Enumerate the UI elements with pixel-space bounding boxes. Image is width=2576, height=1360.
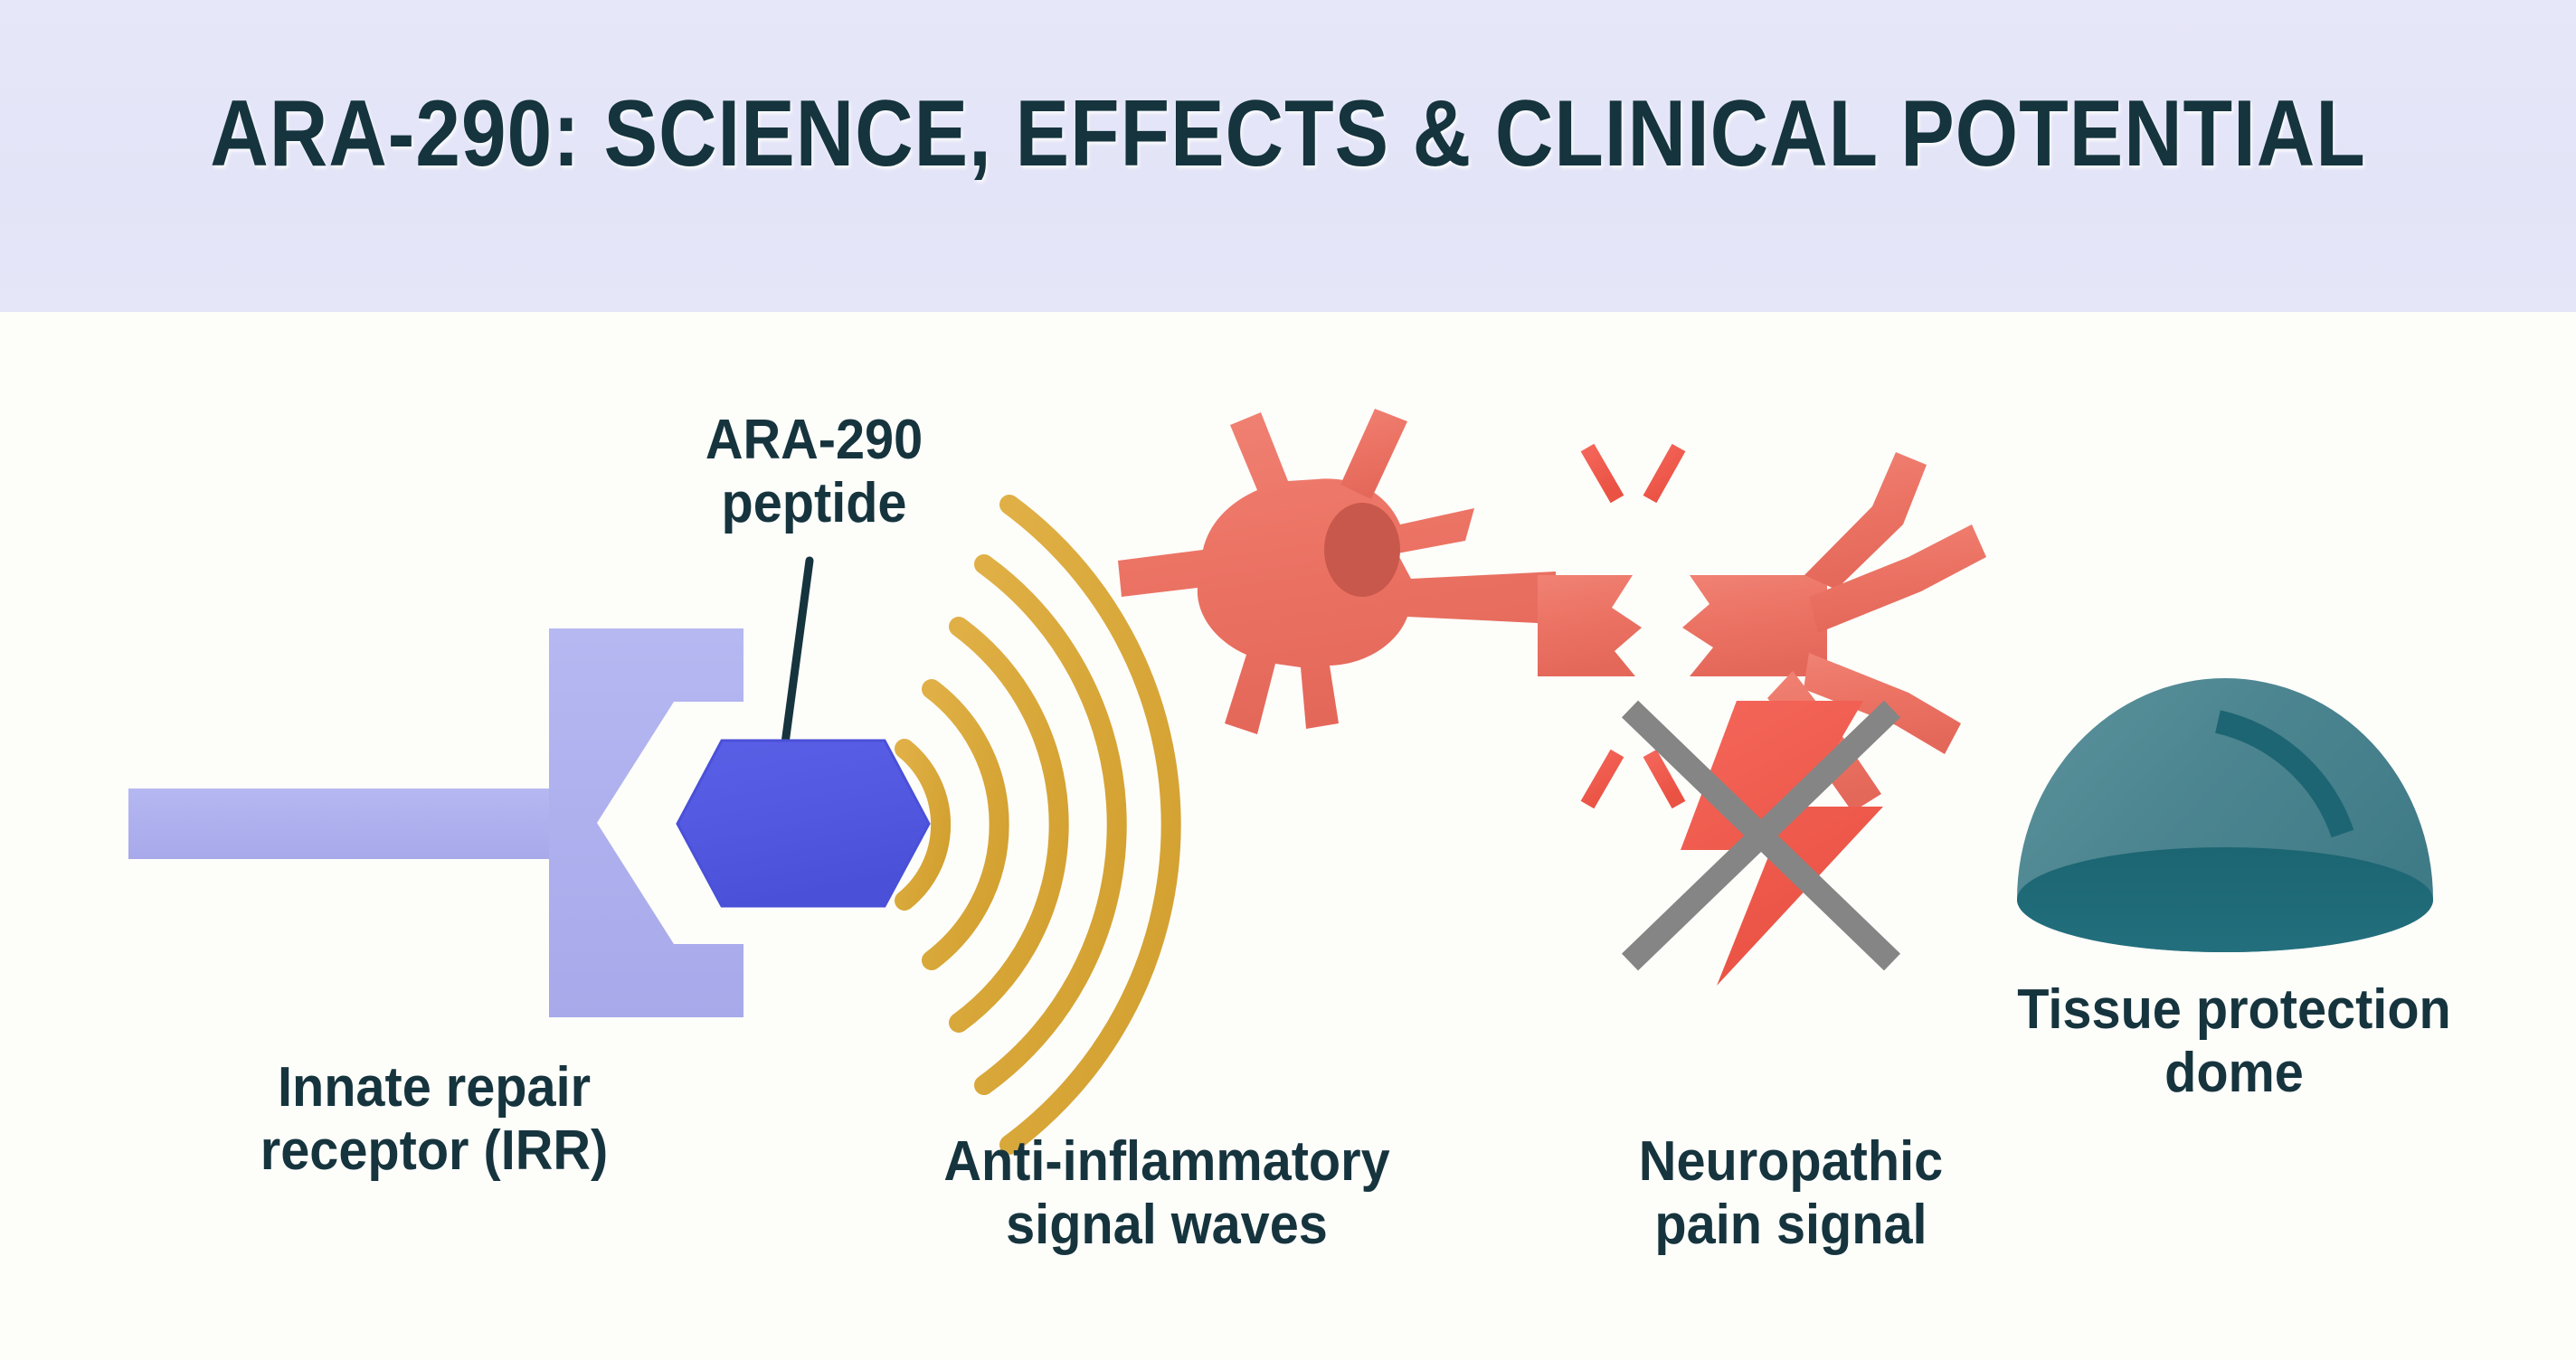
caption-tissue-protection-dome: Tissue protection dome [1990,978,2477,1105]
caption-anti-inflammatory-waves: Anti-inflammatory signal waves [889,1130,1444,1257]
caption-neuropathic-pain: Neuropathic pain signal [1556,1130,2027,1257]
caption-irr: Innate repair receptor (IRR) [140,1056,729,1183]
peptide-label: ARA-290 peptide [629,409,999,535]
page-title: ARA-290: SCIENCE, EFFECTS & CLINICAL POT… [180,85,2395,184]
infographic-canvas: ARA-290: SCIENCE, EFFECTS & CLINICAL POT… [0,0,2576,1360]
